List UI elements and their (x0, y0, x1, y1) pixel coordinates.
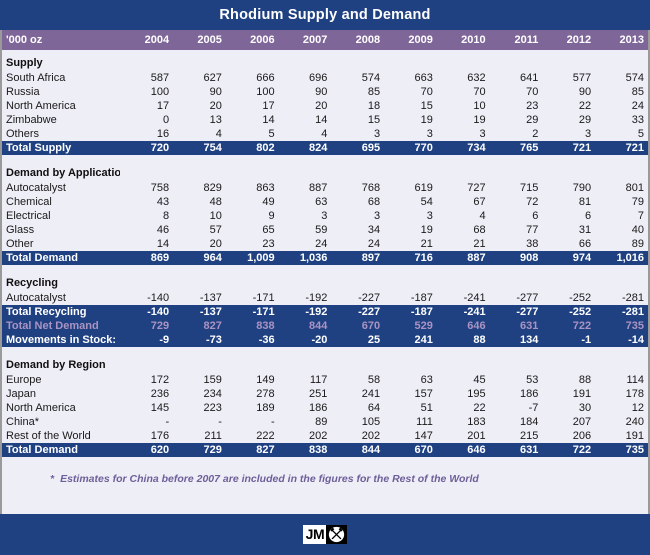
cell-2004: 0 (120, 113, 173, 127)
cell-2006: 278 (226, 387, 279, 401)
cell-2008: 768 (331, 181, 384, 195)
section-heading-pad (384, 166, 437, 181)
cell-2012: 81 (542, 195, 595, 209)
cell-2010: 45 (437, 373, 490, 387)
row-label: North America (2, 99, 120, 113)
section-heading-pad (120, 358, 173, 373)
cell-2006: 14 (226, 113, 279, 127)
row-label: Electrical (2, 209, 120, 223)
cell-2004: 16 (120, 127, 173, 141)
cell-2008: 24 (331, 237, 384, 251)
cell-2004: 14 (120, 237, 173, 251)
spacer-row (2, 347, 648, 358)
total-cell-2009: 241 (384, 333, 437, 347)
total-row: Movements in Stock:-9-73-36-202524188134… (2, 333, 648, 347)
cell-2005: -137 (173, 291, 226, 305)
cell-2012: 206 (542, 429, 595, 443)
cell-2009: -187 (384, 291, 437, 305)
total-cell-2007: 838 (279, 443, 332, 457)
cell-2012: 191 (542, 387, 595, 401)
cell-2004: 46 (120, 223, 173, 237)
section-heading-pad (595, 166, 648, 181)
row-label: Zimbabwe (2, 113, 120, 127)
cell-2011: 38 (490, 237, 543, 251)
cell-2013: 24 (595, 99, 648, 113)
cell-2007: 24 (279, 237, 332, 251)
cell-2010: 67 (437, 195, 490, 209)
total-cell-2007: 824 (279, 141, 332, 155)
year-header-2008: 2008 (331, 30, 384, 50)
row-label: Autocatalyst (2, 291, 120, 305)
cell-2008: 85 (331, 85, 384, 99)
table-row: Electrical81093334667 (2, 209, 648, 223)
year-header-2006: 2006 (226, 30, 279, 50)
cell-2012: 29 (542, 113, 595, 127)
year-header-2011: 2011 (490, 30, 543, 50)
cell-2013: 240 (595, 415, 648, 429)
total-cell-2006: 838 (226, 319, 279, 333)
cell-2006: - (226, 415, 279, 429)
total-cell-2006: -171 (226, 305, 279, 319)
cell-2007: 887 (279, 181, 332, 195)
total-cell-2012: 974 (542, 251, 595, 265)
year-header-2012: 2012 (542, 30, 595, 50)
table-row: Rest of the World17621122220220214720121… (2, 429, 648, 443)
cell-2004: 145 (120, 401, 173, 415)
section-heading-pad (331, 358, 384, 373)
cell-2013: -281 (595, 291, 648, 305)
row-label: North America (2, 401, 120, 415)
year-header-2007: 2007 (279, 30, 332, 50)
cell-2010: 727 (437, 181, 490, 195)
cell-2013: 33 (595, 113, 648, 127)
cell-2012: 577 (542, 71, 595, 85)
spacer-row (2, 155, 648, 166)
cell-2004: 176 (120, 429, 173, 443)
cell-2010: 183 (437, 415, 490, 429)
spacer-cell (2, 155, 648, 166)
row-label: Rest of the World (2, 429, 120, 443)
section-heading-row: Demand by Application (2, 166, 648, 181)
cell-2011: 29 (490, 113, 543, 127)
cell-2009: 21 (384, 237, 437, 251)
cell-2010: 21 (437, 237, 490, 251)
cell-2005: 4 (173, 127, 226, 141)
total-cell-2004: -140 (120, 305, 173, 319)
row-label: Autocatalyst (2, 181, 120, 195)
cell-2004: - (120, 415, 173, 429)
section-heading-pad (542, 166, 595, 181)
cell-2012: 207 (542, 415, 595, 429)
section-heading-row: Recycling (2, 276, 648, 291)
cell-2005: 20 (173, 237, 226, 251)
total-row: Total Supply7207548028246957707347657217… (2, 141, 648, 155)
total-cell-2006: 802 (226, 141, 279, 155)
cell-2011: -7 (490, 401, 543, 415)
cell-2008: 241 (331, 387, 384, 401)
row-label: Others (2, 127, 120, 141)
footnote-marker: * (50, 473, 54, 485)
total-cell-2008: 897 (331, 251, 384, 265)
section-heading-pad (120, 276, 173, 291)
cell-2008: 105 (331, 415, 384, 429)
cell-2012: 88 (542, 373, 595, 387)
section-heading-pad (331, 56, 384, 71)
section-heading-pad (384, 276, 437, 291)
row-label: Other (2, 237, 120, 251)
total-cell-2010: 734 (437, 141, 490, 155)
section-heading-row: Demand by Region (2, 358, 648, 373)
cell-2010: 3 (437, 127, 490, 141)
cell-2009: 70 (384, 85, 437, 99)
cell-2004: 236 (120, 387, 173, 401)
cell-2013: 89 (595, 237, 648, 251)
total-cell-2004: -9 (120, 333, 173, 347)
cell-2005: - (173, 415, 226, 429)
cell-2012: 22 (542, 99, 595, 113)
cell-2010: 4 (437, 209, 490, 223)
table-row: Chemical43484963685467728179 (2, 195, 648, 209)
section-heading-pad (120, 56, 173, 71)
cell-2010: 70 (437, 85, 490, 99)
total-row: Total Net Demand729827838844670529646631… (2, 319, 648, 333)
total-cell-2007: 1,036 (279, 251, 332, 265)
section-heading-pad (437, 276, 490, 291)
cell-2013: 178 (595, 387, 648, 401)
footnote-text: Estimates for China before 2007 are incl… (60, 473, 479, 485)
section-heading-pad (226, 276, 279, 291)
table-row: China*---89105111183184207240 (2, 415, 648, 429)
cell-2009: 157 (384, 387, 437, 401)
section-heading-pad (490, 358, 543, 373)
cell-2011: 2 (490, 127, 543, 141)
cell-2013: 79 (595, 195, 648, 209)
cell-2009: 111 (384, 415, 437, 429)
cell-2008: 68 (331, 195, 384, 209)
cell-2012: 31 (542, 223, 595, 237)
cell-2010: 195 (437, 387, 490, 401)
cell-2006: 149 (226, 373, 279, 387)
cell-2007: 14 (279, 113, 332, 127)
cell-2013: 40 (595, 223, 648, 237)
cell-2006: 222 (226, 429, 279, 443)
total-cell-2009: -187 (384, 305, 437, 319)
cell-2010: 632 (437, 71, 490, 85)
section-heading-pad (490, 166, 543, 181)
cell-2007: 20 (279, 99, 332, 113)
cell-2008: -227 (331, 291, 384, 305)
cell-2006: 65 (226, 223, 279, 237)
table-row: Others16454333235 (2, 127, 648, 141)
table-row: Autocatalyst-140-137-171-192-227-187-241… (2, 291, 648, 305)
section-heading-pad (542, 358, 595, 373)
cell-2011: 215 (490, 429, 543, 443)
cell-2011: -277 (490, 291, 543, 305)
section-heading-pad (331, 276, 384, 291)
year-header-2013: 2013 (595, 30, 648, 50)
row-label: Japan (2, 387, 120, 401)
total-row-label: Total Demand (2, 443, 120, 457)
cell-2008: 64 (331, 401, 384, 415)
row-label: Glass (2, 223, 120, 237)
cell-2006: 863 (226, 181, 279, 195)
total-cell-2007: 844 (279, 319, 332, 333)
page-title-bar: Rhodium Supply and Demand (0, 0, 650, 30)
cell-2004: 43 (120, 195, 173, 209)
section-heading-pad (437, 166, 490, 181)
total-row-label: Total Demand (2, 251, 120, 265)
cell-2007: -192 (279, 291, 332, 305)
section-heading-pad (279, 276, 332, 291)
cell-2013: 191 (595, 429, 648, 443)
row-label: Chemical (2, 195, 120, 209)
cell-2008: 34 (331, 223, 384, 237)
footnote: *Estimates for China before 2007 are inc… (2, 457, 648, 485)
year-header-2005: 2005 (173, 30, 226, 50)
section-heading-pad (490, 56, 543, 71)
supply-demand-table: '000 oz200420052006200720082009201020112… (2, 30, 648, 457)
cell-2012: 3 (542, 127, 595, 141)
cell-2010: 68 (437, 223, 490, 237)
total-cell-2005: 729 (173, 443, 226, 457)
total-cell-2009: 770 (384, 141, 437, 155)
unit-label: '000 oz (2, 30, 120, 50)
footer-bar: JM (0, 514, 650, 555)
total-cell-2008: 844 (331, 443, 384, 457)
cell-2004: 587 (120, 71, 173, 85)
cell-2004: 17 (120, 99, 173, 113)
cell-2011: 715 (490, 181, 543, 195)
cell-2013: 114 (595, 373, 648, 387)
total-row: Total Recycling-140-137-171-192-227-187-… (2, 305, 648, 319)
spacer-row (2, 265, 648, 276)
cell-2005: 223 (173, 401, 226, 415)
section-heading-pad (384, 56, 437, 71)
cell-2004: 172 (120, 373, 173, 387)
cell-2005: 48 (173, 195, 226, 209)
cell-2011: 70 (490, 85, 543, 99)
cell-2005: 627 (173, 71, 226, 85)
cell-2007: 59 (279, 223, 332, 237)
section-heading-pad (279, 56, 332, 71)
section-heading-pad (490, 276, 543, 291)
table-row: North America17201720181510232224 (2, 99, 648, 113)
section-heading-pad (226, 56, 279, 71)
cell-2006: 49 (226, 195, 279, 209)
section-heading: Recycling (2, 276, 120, 291)
cell-2008: 58 (331, 373, 384, 387)
cell-2009: 63 (384, 373, 437, 387)
cell-2005: 57 (173, 223, 226, 237)
table-row: Russia1009010090857070709085 (2, 85, 648, 99)
total-cell-2004: 729 (120, 319, 173, 333)
cell-2010: 19 (437, 113, 490, 127)
total-cell-2005: -73 (173, 333, 226, 347)
total-cell-2010: 646 (437, 319, 490, 333)
cell-2011: 186 (490, 387, 543, 401)
cell-2009: 663 (384, 71, 437, 85)
cell-2007: 63 (279, 195, 332, 209)
total-row-label: Movements in Stock: (2, 333, 120, 347)
total-cell-2006: 1,009 (226, 251, 279, 265)
year-header-2010: 2010 (437, 30, 490, 50)
total-cell-2009: 670 (384, 443, 437, 457)
cell-2007: 202 (279, 429, 332, 443)
year-header-2009: 2009 (384, 30, 437, 50)
cell-2006: 100 (226, 85, 279, 99)
total-cell-2009: 716 (384, 251, 437, 265)
section-heading: Supply (2, 56, 120, 71)
total-cell-2008: 25 (331, 333, 384, 347)
cell-2007: 186 (279, 401, 332, 415)
cell-2004: 8 (120, 209, 173, 223)
cell-2013: 7 (595, 209, 648, 223)
section-heading-pad (173, 358, 226, 373)
total-cell-2012: -252 (542, 305, 595, 319)
row-label: South Africa (2, 71, 120, 85)
total-cell-2010: 88 (437, 333, 490, 347)
total-cell-2012: -1 (542, 333, 595, 347)
total-cell-2011: 765 (490, 141, 543, 155)
cell-2008: 574 (331, 71, 384, 85)
cell-2007: 696 (279, 71, 332, 85)
total-cell-2010: -241 (437, 305, 490, 319)
total-cell-2013: 735 (595, 443, 648, 457)
total-cell-2011: 631 (490, 443, 543, 457)
cell-2007: 3 (279, 209, 332, 223)
cell-2009: 15 (384, 99, 437, 113)
cell-2006: 23 (226, 237, 279, 251)
cell-2005: 234 (173, 387, 226, 401)
cell-2011: 23 (490, 99, 543, 113)
total-cell-2013: -14 (595, 333, 648, 347)
cell-2009: 3 (384, 127, 437, 141)
table-header-row: '000 oz200420052006200720082009201020112… (2, 30, 648, 50)
total-cell-2012: 721 (542, 141, 595, 155)
section-heading-pad (120, 166, 173, 181)
row-label: China* (2, 415, 120, 429)
table-row: Japan236234278251241157195186191178 (2, 387, 648, 401)
cell-2010: 22 (437, 401, 490, 415)
section-heading-pad (279, 358, 332, 373)
row-label: Europe (2, 373, 120, 387)
cell-2005: 10 (173, 209, 226, 223)
table-row: Other14202324242121386689 (2, 237, 648, 251)
total-cell-2013: 735 (595, 319, 648, 333)
table-row: Zimbabwe0131414151919292933 (2, 113, 648, 127)
cell-2012: 66 (542, 237, 595, 251)
total-cell-2008: 695 (331, 141, 384, 155)
table-row: North America145223189186645122-73012 (2, 401, 648, 415)
cell-2007: 4 (279, 127, 332, 141)
total-cell-2006: -36 (226, 333, 279, 347)
table-row: Europe1721591491175863455388114 (2, 373, 648, 387)
total-cell-2005: 964 (173, 251, 226, 265)
cell-2006: -171 (226, 291, 279, 305)
cell-2009: 54 (384, 195, 437, 209)
cell-2005: 211 (173, 429, 226, 443)
section-heading-pad (437, 56, 490, 71)
cell-2013: 12 (595, 401, 648, 415)
cell-2005: 20 (173, 99, 226, 113)
cell-2013: 85 (595, 85, 648, 99)
total-cell-2008: -227 (331, 305, 384, 319)
cell-2013: 801 (595, 181, 648, 195)
cell-2009: 19 (384, 113, 437, 127)
cell-2004: -140 (120, 291, 173, 305)
total-row: Total Demand8699641,0091,036897716887908… (2, 251, 648, 265)
total-cell-2004: 869 (120, 251, 173, 265)
spreadsheet-page: Rhodium Supply and Demand '000 oz2004200… (0, 0, 650, 555)
cell-2007: 251 (279, 387, 332, 401)
cell-2004: 758 (120, 181, 173, 195)
table-row: Autocatalyst7588298638877686197277157908… (2, 181, 648, 195)
total-cell-2007: -192 (279, 305, 332, 319)
cell-2010: 10 (437, 99, 490, 113)
total-row-label: Total Recycling (2, 305, 120, 319)
cell-2005: 13 (173, 113, 226, 127)
cell-2010: 201 (437, 429, 490, 443)
cell-2006: 17 (226, 99, 279, 113)
total-cell-2006: 827 (226, 443, 279, 457)
total-cell-2012: 722 (542, 443, 595, 457)
cell-2004: 100 (120, 85, 173, 99)
section-heading-pad (279, 166, 332, 181)
cell-2011: 77 (490, 223, 543, 237)
section-heading-pad (595, 56, 648, 71)
section-heading-pad (226, 166, 279, 181)
cell-2005: 159 (173, 373, 226, 387)
crossed-hammers-icon (326, 525, 347, 544)
total-cell-2012: 722 (542, 319, 595, 333)
cell-2012: 6 (542, 209, 595, 223)
total-cell-2005: 754 (173, 141, 226, 155)
section-heading-pad (437, 358, 490, 373)
cell-2009: 147 (384, 429, 437, 443)
jm-logo: JM (303, 525, 348, 544)
table-row: Glass46576559341968773140 (2, 223, 648, 237)
section-heading-pad (173, 276, 226, 291)
total-cell-2010: 646 (437, 443, 490, 457)
total-cell-2013: -281 (595, 305, 648, 319)
total-cell-2011: -277 (490, 305, 543, 319)
total-row: Total Demand6207298278388446706466317227… (2, 443, 648, 457)
total-cell-2004: 620 (120, 443, 173, 457)
cell-2009: 619 (384, 181, 437, 195)
spacer-cell (2, 265, 648, 276)
section-heading-pad (173, 56, 226, 71)
cell-2005: 90 (173, 85, 226, 99)
cell-2011: 6 (490, 209, 543, 223)
jm-logo-text: JM (303, 525, 327, 544)
cell-2011: 641 (490, 71, 543, 85)
total-cell-2011: 134 (490, 333, 543, 347)
cell-2009: 51 (384, 401, 437, 415)
cell-2008: 18 (331, 99, 384, 113)
cell-2011: 53 (490, 373, 543, 387)
cell-2008: 3 (331, 127, 384, 141)
spacer-cell (2, 347, 648, 358)
section-heading-pad (542, 56, 595, 71)
total-cell-2011: 631 (490, 319, 543, 333)
cell-2009: 3 (384, 209, 437, 223)
cell-2011: 72 (490, 195, 543, 209)
total-cell-2005: 827 (173, 319, 226, 333)
cell-2006: 189 (226, 401, 279, 415)
section-heading-pad (595, 358, 648, 373)
cell-2007: 89 (279, 415, 332, 429)
section-heading-pad (226, 358, 279, 373)
